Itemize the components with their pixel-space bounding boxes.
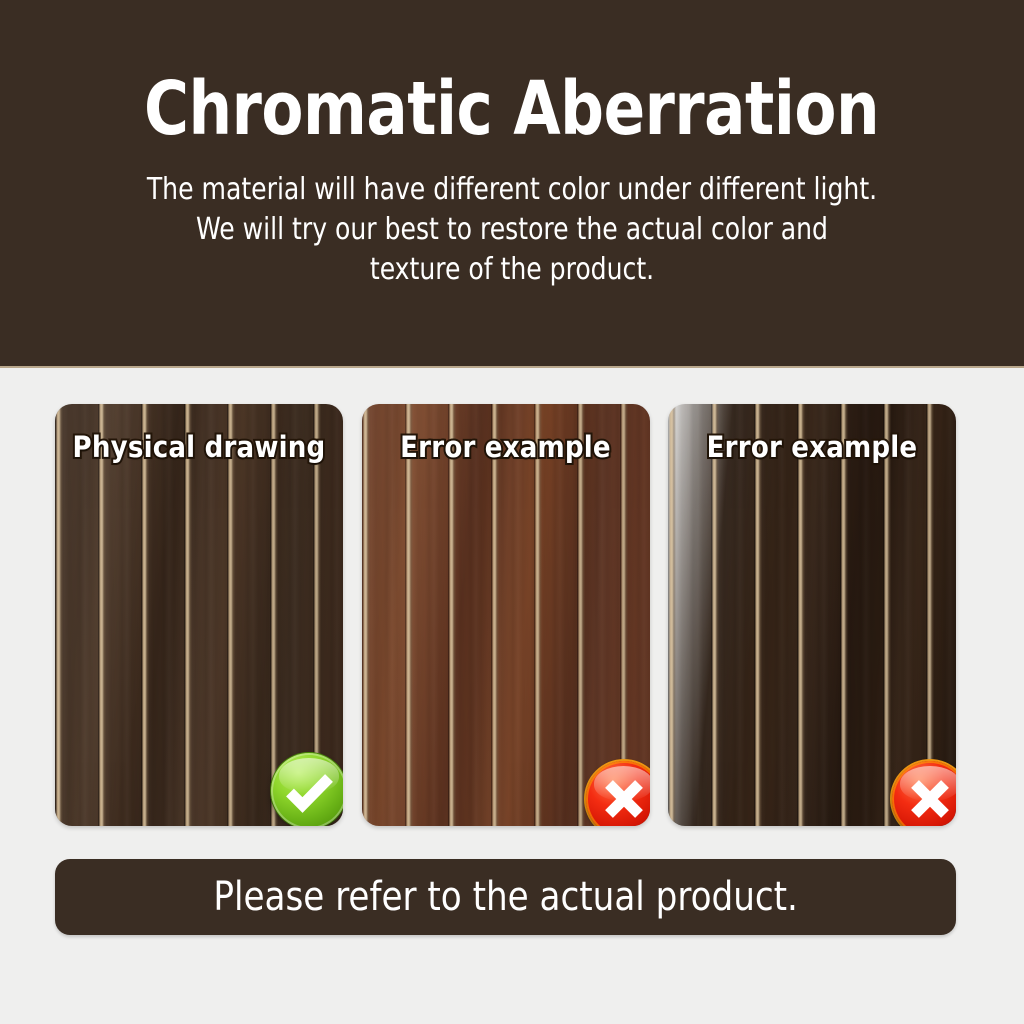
header-subtitle: The material will have different color u… [75, 170, 949, 290]
subtitle-line-3: texture of the product. [75, 250, 949, 290]
cross-circle-icon [892, 761, 956, 826]
footer-banner: Please refer to the actual product. [55, 859, 956, 935]
cross-circle-icon [586, 761, 650, 826]
chromatic-aberration-notice: Chromatic Aberration The material will h… [0, 0, 1024, 1024]
sample-comparison-row: Physical drawing Error example [55, 404, 956, 826]
sample-panel-error-dark[interactable]: Error example [668, 404, 956, 826]
panel-label: Error example [362, 430, 650, 464]
subtitle-line-1: The material will have different color u… [75, 170, 949, 210]
footer-text: Please refer to the actual product. [213, 874, 798, 920]
subtitle-line-2: We will try our best to restore the actu… [75, 210, 949, 250]
check-circle-icon [271, 753, 343, 826]
sample-panel-error-red[interactable]: Error example [362, 404, 650, 826]
header-banner: Chromatic Aberration The material will h… [0, 0, 1024, 368]
sample-panel-physical-drawing[interactable]: Physical drawing [55, 404, 343, 826]
panel-label: Physical drawing [55, 430, 343, 464]
page-title: Chromatic Aberration [144, 72, 879, 146]
panel-label: Error example [668, 430, 956, 464]
